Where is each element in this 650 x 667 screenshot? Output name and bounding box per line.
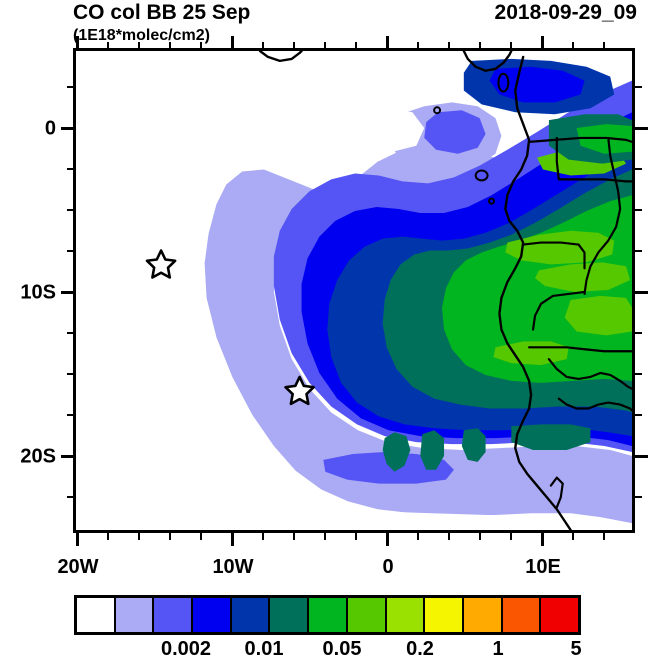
x-tick-minor xyxy=(324,533,326,540)
colorbar[interactable] xyxy=(74,595,581,635)
co-column-contour-map xyxy=(76,51,632,530)
y-tick-right-major xyxy=(635,455,648,458)
x-tick-minor xyxy=(510,533,512,540)
contour-patch-nw-white xyxy=(288,106,425,153)
colorbar-cell-7[interactable] xyxy=(309,598,348,632)
colorbar-label-1: 0.01 xyxy=(245,638,284,661)
x-tick-top-minor xyxy=(510,42,512,49)
x-tick-minor xyxy=(448,533,450,540)
colorbar-label-2: 0.05 xyxy=(323,638,362,661)
colorbar-cell-8[interactable] xyxy=(348,598,387,632)
colorbar-label-4: 1 xyxy=(492,638,503,661)
y-tick-major-10s xyxy=(61,291,74,294)
y-tick-minor xyxy=(67,332,74,334)
x-tick-minor xyxy=(572,533,574,540)
x-tick-minor xyxy=(479,533,481,540)
x-tick-major-10e xyxy=(541,533,544,546)
units-label: (1E18*molec/cm2) xyxy=(73,27,210,45)
colorbar-cell-10[interactable] xyxy=(425,598,464,632)
x-tick-top-major xyxy=(76,36,79,49)
x-tick-minor xyxy=(169,533,171,540)
x-tick-minor xyxy=(293,533,295,540)
colorbar-cell-5[interactable] xyxy=(232,598,271,632)
y-tick-minor xyxy=(67,209,74,211)
x-tick-top-minor xyxy=(200,42,202,49)
y-tick-right-minor xyxy=(635,496,642,498)
y-axis-label-0: 0 xyxy=(10,118,56,141)
colorbar-cell-6[interactable] xyxy=(270,598,309,632)
y-tick-minor xyxy=(67,250,74,252)
x-tick-top-major xyxy=(231,36,234,49)
x-tick-top-minor xyxy=(293,42,295,49)
x-tick-minor xyxy=(417,533,419,540)
colorbar-cell-11[interactable] xyxy=(464,598,503,632)
x-tick-top-minor xyxy=(324,42,326,49)
colorbar-cell-1[interactable] xyxy=(77,598,116,632)
y-tick-right-minor xyxy=(635,373,642,375)
colorbar-cell-3[interactable] xyxy=(154,598,193,632)
x-tick-top-minor xyxy=(448,42,450,49)
x-tick-top-minor xyxy=(355,42,357,49)
y-tick-right-minor xyxy=(635,209,642,211)
x-tick-top-minor xyxy=(603,42,605,49)
y-tick-major-20s xyxy=(61,455,74,458)
y-tick-right-minor xyxy=(635,86,642,88)
y-tick-right-minor xyxy=(635,168,642,170)
x-axis-label-20w: 20W xyxy=(57,556,98,579)
y-tick-minor xyxy=(67,414,74,416)
colorbar-label-0: 0.002 xyxy=(161,638,211,661)
x-tick-minor xyxy=(262,533,264,540)
x-tick-minor xyxy=(138,533,140,540)
x-tick-top-minor xyxy=(417,42,419,49)
colorbar-label-3: 0.2 xyxy=(406,638,434,661)
x-tick-minor xyxy=(200,533,202,540)
colorbar-label-5: 5 xyxy=(570,638,581,661)
x-tick-top-minor xyxy=(169,42,171,49)
y-tick-right-minor xyxy=(635,414,642,416)
x-tick-top-major xyxy=(386,36,389,49)
colorbar-cell-9[interactable] xyxy=(387,598,426,632)
y-tick-minor xyxy=(67,373,74,375)
colorbar-cell-12[interactable] xyxy=(503,598,542,632)
x-tick-top-minor xyxy=(572,42,574,49)
timestamp-label: 2018-09-29_09 xyxy=(495,1,637,25)
x-axis-label-10e: 10E xyxy=(525,556,561,579)
page-title: CO col BB 25 Sep xyxy=(73,1,250,25)
x-tick-minor xyxy=(107,533,109,540)
x-tick-top-minor xyxy=(262,42,264,49)
y-tick-minor xyxy=(67,496,74,498)
y-tick-minor xyxy=(67,168,74,170)
x-tick-major-20w xyxy=(76,533,79,546)
y-tick-right-minor xyxy=(635,250,642,252)
x-tick-top-minor xyxy=(479,42,481,49)
colorbar-cell-2[interactable] xyxy=(116,598,155,632)
x-tick-top-minor xyxy=(107,42,109,49)
y-tick-minor xyxy=(67,86,74,88)
x-tick-top-minor xyxy=(138,42,140,49)
y-axis-label-10s: 10S xyxy=(0,282,56,305)
x-axis-label-0: 0 xyxy=(382,556,393,579)
x-axis-label-10w: 10W xyxy=(212,556,253,579)
x-tick-major-0 xyxy=(386,533,389,546)
x-tick-major-10w xyxy=(231,533,234,546)
y-tick-right-major xyxy=(635,291,648,294)
y-axis-label-20s: 20S xyxy=(0,446,56,469)
colorbar-cell-4[interactable] xyxy=(193,598,232,632)
y-tick-right-major xyxy=(635,127,648,130)
y-tick-right-minor xyxy=(635,332,642,334)
y-tick-major-0 xyxy=(61,127,74,130)
x-tick-top-major xyxy=(541,36,544,49)
figure-root: CO col BB 25 Sep (1E18*molec/cm2) 2018-0… xyxy=(0,0,650,667)
colorbar-cell-13[interactable] xyxy=(541,598,578,632)
x-tick-minor xyxy=(355,533,357,540)
map-plot-area xyxy=(73,48,635,533)
x-tick-minor xyxy=(603,533,605,540)
